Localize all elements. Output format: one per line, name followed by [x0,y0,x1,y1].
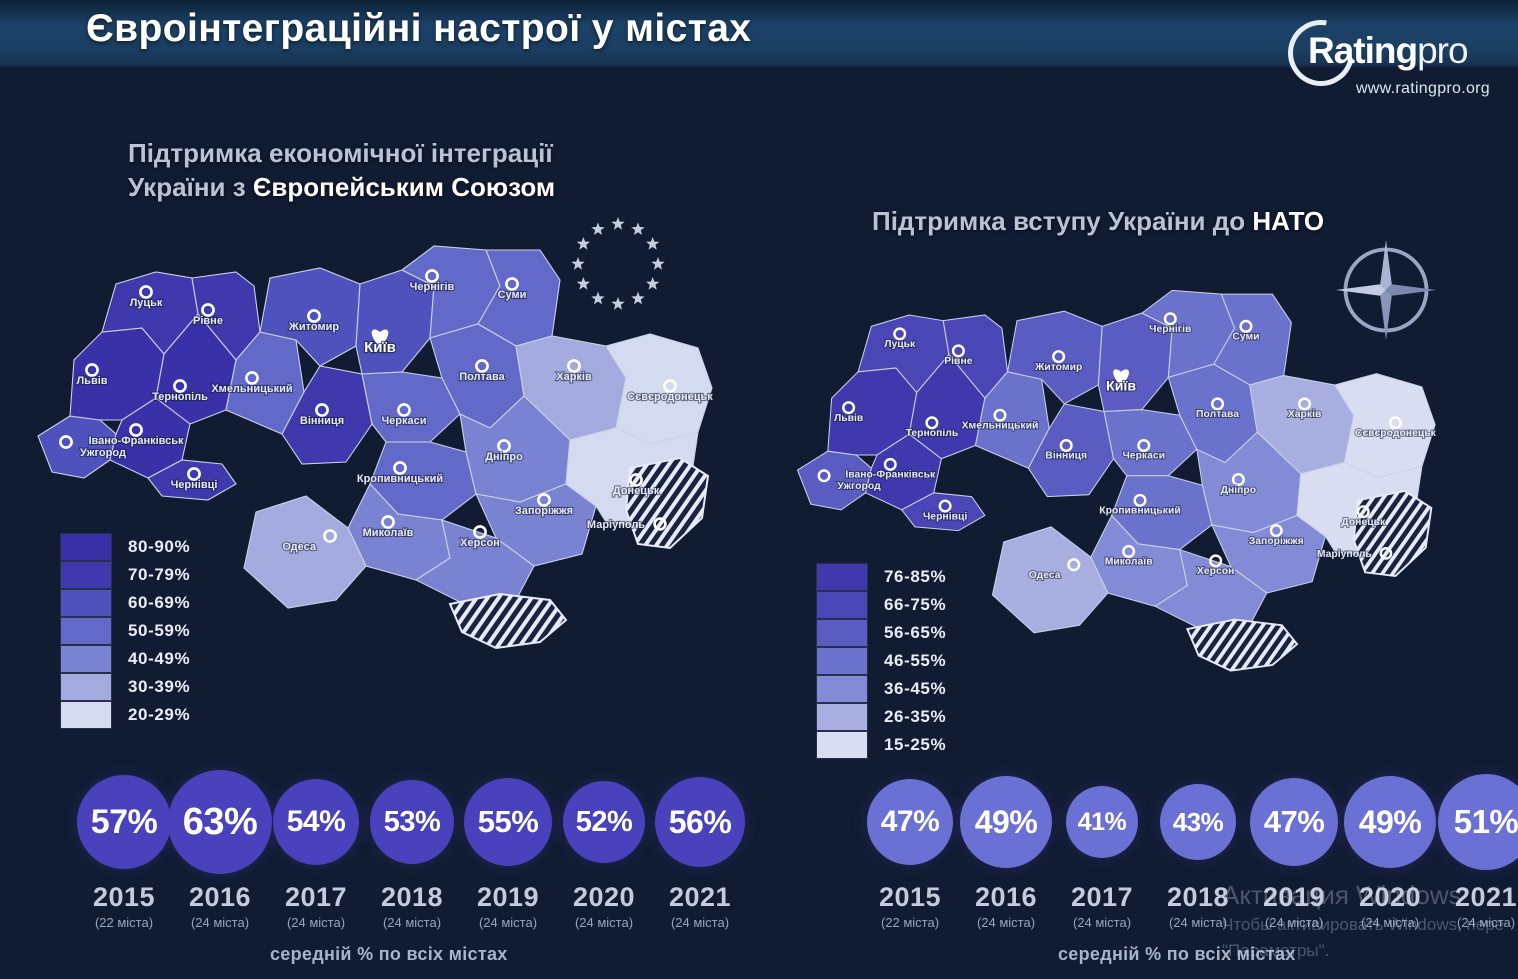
legend-label: 56-65% [884,623,946,643]
city-label: Маріуполь [587,519,645,531]
right-panel-heading: Підтримка вступу України до НАТО [872,204,1472,238]
legend-row: 70-79% [60,561,190,589]
bubble-holder: 49% [1344,768,1436,876]
city-label: Тернопіль [906,428,959,439]
year-label: 2018 [381,882,443,913]
right-heading-line: Підтримка вступу України до НАТО [872,204,1472,238]
legend-row: 36-45% [816,675,946,703]
percent-bubble: 43% [1160,784,1236,860]
bubble-holder: 47% [867,768,953,876]
bubble-holder: 53% [370,768,454,876]
year-item: 52%2020(24 міста) [556,768,652,930]
year-item: 63%2016(24 міста) [172,768,268,930]
percent-value: 49% [975,804,1038,841]
legend-label: 66-75% [884,595,946,615]
city-label: Полтава [1196,409,1239,420]
city-label: Донецьк [1341,517,1386,528]
city-label: Хмельницький [962,420,1039,431]
right-heading-highlight: НАТО [1252,206,1324,236]
year-label: 2017 [1071,882,1133,913]
year-cities-count: (24 міста) [1265,915,1323,930]
year-item: 47%2019(24 міста) [1246,768,1342,930]
year-label: 2016 [189,882,251,913]
city-label: Чернігів [1149,324,1191,335]
legend-label: 60-69% [128,593,190,613]
bubble-holder: 41% [1066,768,1138,876]
legend-label: 80-90% [128,537,190,557]
city-label: Донецьк [613,485,660,497]
legend-swatch [60,617,112,645]
percent-value: 57% [91,803,158,842]
year-item: 43%2018(24 міста) [1150,768,1246,930]
year-label: 2019 [1263,882,1325,913]
percent-bubble: 51% [1438,774,1518,870]
avg-caption-nato: середній % по всіх містах [1058,944,1296,965]
bubble-holder: 43% [1160,768,1236,876]
year-cities-count: (24 міста) [1073,915,1131,930]
legend-label: 46-55% [884,651,946,671]
bubble-holder: 47% [1250,768,1338,876]
percent-value: 41% [1078,808,1127,837]
year-label: 2018 [1167,882,1229,913]
legend-row: 15-25% [816,731,946,759]
percent-bubble: 52% [563,781,645,863]
percent-bubble: 49% [960,776,1052,868]
legend-eu-support: 80-90%70-79%60-69%50-59%40-49%30-39%20-2… [60,533,190,729]
legend-row: 46-55% [816,647,946,675]
city-label: Ужгород [80,447,126,459]
percent-bubble: 41% [1066,786,1138,858]
year-cities-count: (22 міста) [881,915,939,930]
legend-row: 20-29% [60,701,190,729]
avg-caption-eu: середній % по всіх містах [270,944,508,965]
legend-label: 70-79% [128,565,190,585]
city-label: Житомир [1034,362,1082,373]
legend-label: 36-45% [884,679,946,699]
year-item: 41%2017(24 міста) [1054,768,1150,930]
city-label: Одеса [1029,570,1061,581]
logo-suffix: pro [1417,30,1467,71]
city-label: Черкаси [1122,451,1165,462]
left-heading-highlight: Європейським Союзом [253,172,555,202]
legend-nato-support: 76-85%66-75%56-65%46-55%36-45%26-35%15-2… [816,563,946,759]
year-cities-count: (24 міста) [977,915,1035,930]
city-label: Сєвєродонецьк [627,391,713,403]
city-label: Черкаси [381,415,426,427]
legend-row: 26-35% [816,703,946,731]
year-label: 2020 [1359,882,1421,913]
legend-swatch [816,619,868,647]
legend-swatch [60,645,112,673]
city-label: Вінниця [300,415,344,427]
year-label: 2019 [477,882,539,913]
city-label: Харків [1288,409,1322,420]
year-item: 51%2021(24 міста) [1438,768,1518,930]
map-region-occupied-donbas [1354,491,1432,576]
year-cities-count: (24 міста) [479,915,537,930]
year-cities-count: (24 міста) [575,915,633,930]
city-label: Івано-Франківськ [845,470,936,481]
percent-bubble: 53% [370,780,454,864]
legend-swatch [816,703,868,731]
percent-value: 63% [183,801,258,844]
city-label: Запоріжжя [1249,536,1304,547]
year-cities-count: (24 міста) [1361,915,1419,930]
year-label: 2021 [1455,882,1517,913]
legend-row: 50-59% [60,617,190,645]
city-label: Запоріжжя [515,505,573,517]
legend-swatch [60,533,112,561]
year-label: 2015 [879,882,941,913]
logo-wordmark: Ratingpro [1308,30,1468,72]
city-label: Київ [364,339,396,356]
percent-bubble: 54% [273,779,359,865]
year-label: 2015 [93,882,155,913]
percent-value: 51% [1454,803,1518,841]
year-cities-count: (24 міста) [191,915,249,930]
city-label: Миколаїв [1105,557,1153,568]
city-label: Хмельницький [211,383,292,395]
year-label: 2016 [975,882,1037,913]
city-label: Дніпро [1221,485,1257,496]
city-label: Кропивницький [1099,506,1181,517]
legend-row: 60-69% [60,589,190,617]
legend-label: 50-59% [128,621,190,641]
logo-url: www.ratingpro.org [1356,80,1490,98]
legend-label: 15-25% [884,735,946,755]
logo-name: Rating [1308,30,1417,71]
year-cities-count: (24 міста) [383,915,441,930]
city-label: Чернігів [410,281,455,293]
legend-swatch [816,675,868,703]
year-item: 54%2017(24 міста) [268,768,364,930]
percent-bubble: 49% [1344,776,1436,868]
percent-value: 47% [881,805,940,839]
year-bubbles-eu: 57%2015(22 міста)63%2016(24 міста)54%201… [76,768,748,930]
legend-row: 76-85% [816,563,946,591]
legend-row: 80-90% [60,533,190,561]
legend-swatch [816,731,868,759]
percent-value: 47% [1264,804,1325,840]
bubble-holder: 49% [960,768,1052,876]
page-title: Євроінтеграційні настрої у містах [86,7,751,51]
bubble-holder: 56% [655,768,745,876]
legend-row: 30-39% [60,673,190,701]
legend-swatch [60,561,112,589]
city-label: Луцьк [884,339,916,350]
legend-swatch [816,591,868,619]
map-region-occupied-donbas [626,458,708,548]
city-label: Тернопіль [152,391,208,403]
legend-row: 66-75% [816,591,946,619]
percent-value: 54% [287,805,346,839]
year-cities-count: (24 міста) [287,915,345,930]
percent-bubble: 56% [655,777,745,867]
city-label: Кропивницький [357,473,443,485]
percent-bubble: 47% [1250,778,1338,866]
year-cities-count: (22 міста) [95,915,153,930]
city-label: Суми [1232,332,1259,343]
legend-label: 26-35% [884,707,946,727]
bubble-holder: 54% [273,768,359,876]
legend-label: 20-29% [128,705,190,725]
city-label: Чернівці [923,511,967,522]
legend-row: 40-49% [60,645,190,673]
city-label: Житомир [288,321,339,333]
map-region-crimea [450,594,566,648]
city-label: Херсон [1197,566,1234,577]
legend-swatch [816,563,868,591]
legend-label: 40-49% [128,649,190,669]
legend-swatch [60,701,112,729]
left-heading-prefix: України з [128,172,253,202]
legend-label: 76-85% [884,567,946,587]
city-label: Полтава [459,371,505,383]
percent-value: 52% [576,806,633,839]
ratingpro-logo[interactable]: Ratingpro www.ratingpro.org [1246,14,1496,106]
left-heading-line2: України з Європейським Союзом [128,170,748,204]
left-panel-heading: Підтримка економічної інтеграції України… [128,136,748,204]
legend-swatch [60,673,112,701]
city-label: Рівне [944,356,972,367]
infographic-root: Євроінтеграційні настрої у містах Rating… [0,0,1518,979]
year-item: 56%2021(24 міста) [652,768,748,930]
city-label: Чернівці [171,479,218,491]
year-item: 49%2020(24 міста) [1342,768,1438,930]
percent-value: 53% [384,806,441,839]
city-label: Луцьк [130,297,163,309]
city-label: Івано-Франківськ [88,435,184,447]
percent-value: 56% [669,804,732,841]
city-label: Львів [834,413,863,424]
bubble-holder: 51% [1438,768,1518,876]
left-heading-line1: Підтримка економічної інтеграції [128,136,748,170]
year-label: 2017 [285,882,347,913]
city-label: Суми [498,289,527,301]
year-cities-count: (24 міста) [1169,915,1227,930]
percent-bubble: 57% [77,775,171,869]
city-label: Дніпро [485,451,523,463]
percent-value: 49% [1359,804,1422,841]
map-region-crimea [1187,620,1297,671]
year-label: 2020 [573,882,635,913]
percent-value: 43% [1173,807,1224,838]
city-label: Вінниця [1045,451,1087,462]
year-item: 49%2016(24 міста) [958,768,1054,930]
bubble-holder: 57% [77,768,171,876]
legend-label: 30-39% [128,677,190,697]
legend-row: 56-65% [816,619,946,647]
year-item: 55%2019(24 міста) [460,768,556,930]
year-cities-count: (24 міста) [671,915,729,930]
year-bubbles-nato: 47%2015(22 міста)49%2016(24 міста)41%201… [862,768,1518,930]
year-cities-count: (24 міста) [1457,915,1515,930]
city-label: Ужгород [837,481,881,492]
year-item: 57%2015(22 міста) [76,768,172,930]
percent-bubble: 55% [464,778,552,866]
legend-swatch [60,589,112,617]
city-label: Харків [556,371,592,383]
right-heading-prefix: Підтримка вступу України до [872,206,1252,236]
city-label: Херсон [460,537,500,549]
legend-swatch [816,647,868,675]
year-label: 2021 [669,882,731,913]
city-label: Київ [1106,379,1136,395]
percent-bubble: 63% [168,770,272,874]
city-label: Сєвєродонецьк [1355,428,1437,439]
bubble-holder: 63% [168,768,272,876]
percent-value: 55% [478,804,539,840]
percent-bubble: 47% [867,779,953,865]
city-label: Львів [76,375,107,387]
city-label: Миколаїв [363,527,414,539]
year-item: 47%2015(22 міста) [862,768,958,930]
city-label: Одеса [282,541,316,553]
bubble-holder: 52% [563,768,645,876]
bubble-holder: 55% [464,768,552,876]
city-label: Маріуполь [1317,549,1372,560]
year-item: 53%2018(24 міста) [364,768,460,930]
city-label: Рівне [193,315,223,327]
